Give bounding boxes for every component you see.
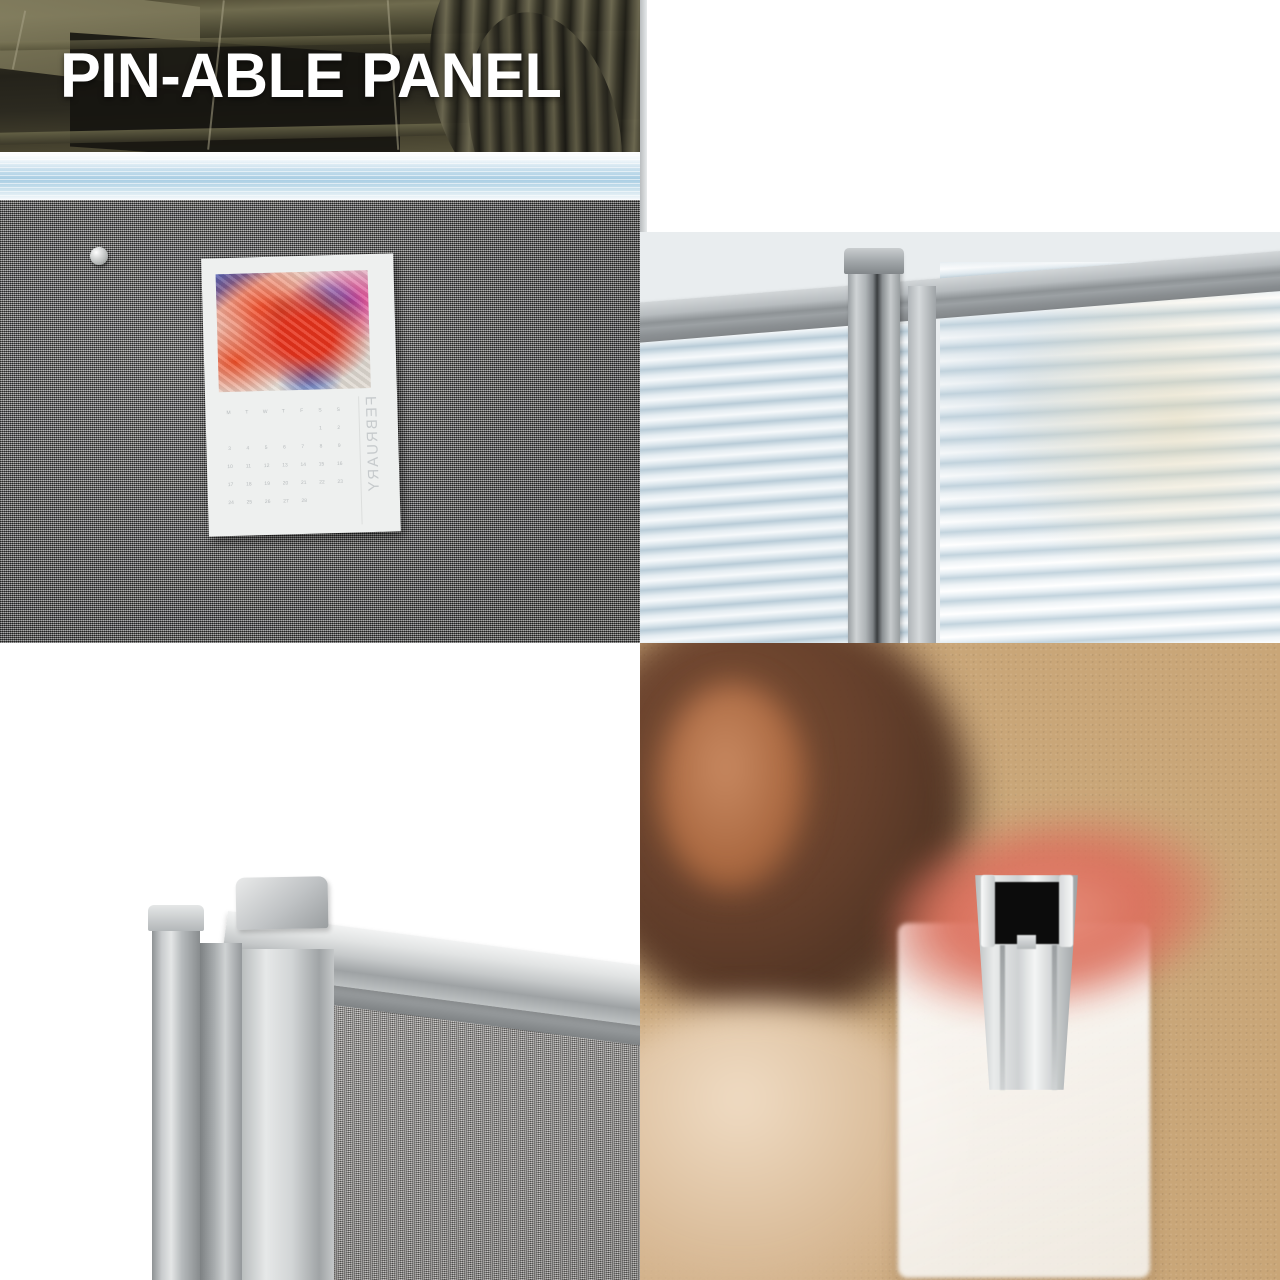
calendar-day: 1: [311, 419, 330, 438]
frame-post-cap: [844, 248, 904, 274]
frame-corner-cap: [236, 876, 329, 930]
calendar-day: 12: [257, 457, 276, 476]
frame-post-back-cap: [148, 905, 204, 931]
calendar-day: 17: [221, 476, 240, 495]
calendar-day: 18: [240, 475, 259, 494]
calendar-day: 6: [275, 438, 294, 457]
panel-toolless-assembly: TOOLLESS ASSEMBLY: [640, 643, 1280, 1280]
calendar-day: [275, 420, 294, 439]
calendar-weekday: T: [274, 402, 293, 421]
frame-post-right: [908, 286, 936, 643]
feature-collage: FEBRUARY M T W T F S S 1: [0, 0, 1280, 1280]
extrusion-rib-right: [1052, 945, 1057, 1090]
panel-light-aircraft-aluminum-frame: LIGHT AIRCRAFT ALUMINUM FRAME: [0, 643, 640, 1280]
calendar-day: 2: [329, 419, 348, 438]
calendar-day: [331, 491, 350, 510]
calendar-day: 4: [239, 439, 258, 458]
caption-pin-able-panel: PIN-ABLE PANEL: [60, 44, 613, 110]
extrusion-rib-left: [1000, 945, 1005, 1090]
calendar-day: [238, 421, 257, 440]
calendar-weekday: S: [311, 401, 330, 420]
extrusion-center-notch: [1017, 935, 1036, 949]
calendar-weekday: F: [292, 402, 311, 421]
calendar-artwork: [216, 270, 371, 392]
calendar-week-row: 24 25 26 27 28: [222, 491, 350, 513]
calendar-day: 3: [220, 440, 239, 459]
calendar-day: 28: [295, 492, 314, 511]
calendar-day: 5: [257, 439, 276, 458]
calendar-day: 11: [239, 457, 258, 476]
calendar-day: 9: [330, 437, 349, 456]
panel-pin-able-panel: FEBRUARY M T W T F S S 1: [0, 0, 640, 643]
calendar-day: 26: [258, 493, 277, 512]
extrusion-lip-left: [981, 875, 995, 947]
calendar-day: 24: [222, 494, 241, 513]
calendar-day: 21: [294, 474, 313, 493]
calendar-day: 13: [276, 456, 295, 475]
calendar-divider: [358, 396, 363, 524]
person-ear-blur-icon: [658, 683, 808, 893]
calendar-day: 16: [330, 455, 349, 474]
extrusion-lip-right: [1059, 875, 1073, 947]
calendar-grid: M T W T F S S 1 2 3: [219, 401, 350, 515]
calendar-day: 23: [331, 473, 350, 492]
frame-post-back: [152, 919, 200, 1280]
calendar-day: 14: [294, 456, 313, 475]
calendar-day: 15: [312, 455, 331, 474]
calendar-day: [256, 421, 275, 440]
calendar-weekday: W: [256, 403, 275, 422]
push-pin-icon: [90, 247, 108, 265]
calendar-day: 25: [240, 493, 259, 512]
panel-customizable-configuration: CUSTOMIZABLE CONFIGURATION: [640, 0, 1280, 643]
calendar-month-label: FEBRUARY: [363, 396, 393, 525]
frame-side-edge: [640, 0, 647, 232]
pinned-calendar: FEBRUARY M T W T F S S 1: [201, 253, 401, 536]
calendar-day: 22: [313, 473, 332, 492]
calendar-day: 20: [276, 474, 295, 493]
divider-frame-photo: [640, 232, 1280, 643]
frame-corner-post: [848, 254, 900, 643]
light-reflection-band: [0, 152, 640, 204]
frame-post-middle: [200, 943, 242, 1280]
aluminum-frame-photo: [0, 643, 640, 1280]
frame-post-front: [242, 949, 334, 1280]
calendar-day: 19: [258, 475, 277, 494]
calendar-day: 27: [277, 492, 296, 511]
calendar-weekday: S: [329, 401, 348, 420]
calendar-day: [220, 422, 239, 441]
calendar-day: [293, 420, 312, 439]
calendar-weekday: M: [219, 404, 238, 423]
window-blinds-right-icon: [940, 262, 1280, 643]
calendar-day: 10: [221, 458, 240, 477]
calendar-day: [313, 491, 332, 510]
calendar-weekday: T: [238, 403, 257, 422]
calendar-day: 7: [293, 438, 312, 457]
calendar-day: 8: [312, 437, 331, 456]
